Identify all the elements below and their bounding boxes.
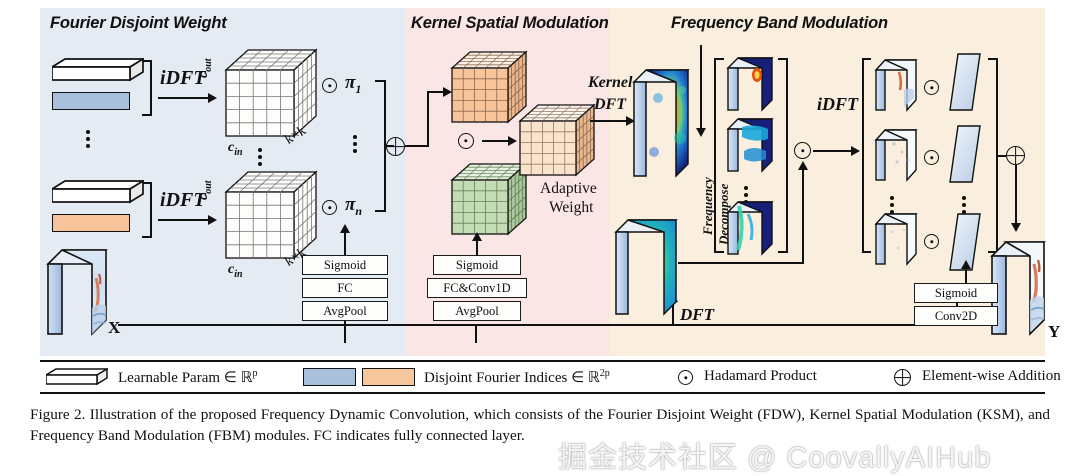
section-title-fbm: Frequency Band Modulation [671,14,888,33]
idft-arrow-head-top [208,93,217,103]
output-label-y: Y [1048,322,1060,342]
slab-shape [990,240,1046,336]
legend-sup-1: 2p [600,368,610,379]
section-title-fdw: Fourier Disjoint Weight [50,14,227,33]
ksm-modulation-cube-green [452,162,528,238]
bar3d-shape [52,180,144,204]
fdw-box-sigmoid[interactable]: Sigmoid [302,255,388,275]
kernel-dft-label-line2: DFT [594,96,626,114]
cube-shape [520,103,596,179]
slab-shape [632,68,690,180]
input-bus-line [118,324,958,326]
ellipsis-params [86,130,90,148]
cube-shape [452,50,528,126]
pi-1-label: π1 [345,72,361,97]
kernel-tensor-cube-bottom [226,170,318,262]
idft-arrow-line-bottom [158,219,210,221]
legend-label-learnable-param: Learnable Param ∈ ℝp [118,368,257,387]
hadamard-icon-pin [322,200,337,215]
legend-sup-0: p [252,368,257,379]
attention-map-slab-1 [948,52,982,114]
idft-arrow-head-bottom [208,215,217,225]
slab-shape [948,124,982,186]
band-bracket-left [714,58,724,253]
kernel-dft-arrow-line [590,120,628,122]
legend-label-hadamard-product: Hadamard Product [704,368,817,385]
ellipsis-cubes [258,148,262,166]
spatial-band-slab-n [874,212,918,266]
idft-label-fbm: iDFT [817,94,858,115]
legend-text-0: Learnable Param ∈ ℝ [118,370,252,386]
swatch-orange-icon [362,368,415,386]
ellipsis-pi [353,135,357,153]
adaptive-weight-label-line1: Adaptive [540,180,597,198]
ksm-weight-cube-orange [452,50,528,126]
legend-label-disjoint-fourier-indices: Disjoint Fourier Indices ∈ ℝ2p [424,368,610,387]
dft-label: DFT [680,305,714,325]
axis-label-cin-bottom: cin [228,262,243,280]
slab-shape [948,52,982,114]
band-bracket-right [778,58,788,253]
hadamard-icon-legend [678,370,693,385]
legend-text-1: Disjoint Fourier Indices ∈ ℝ [424,370,600,386]
cube-shape [452,162,528,238]
disjoint-fourier-index-bar-blue [52,92,130,110]
ksm-box-avgpool[interactable]: AvgPool [433,301,521,321]
spectrum-to-hadamard-arrow [798,161,808,170]
group-bracket-bottom [142,182,152,238]
legend-label-element-wise-addition: Element-wise Addition [922,368,1061,385]
fdw-box-avgpool[interactable]: AvgPool [302,301,388,321]
fdw-to-ksm-riser [427,92,429,147]
axis-label-cout-top: cout [196,58,214,78]
adaptive-weight-label-line2: Weight [549,199,593,217]
spectrum-to-hadamard-riser [802,168,804,263]
hadamard-icon-band-n [924,234,939,249]
axis-label-cout-bottom: cout [196,180,214,200]
fbm-box-output-arrow [961,260,971,269]
figure-caption: Figure 2. Illustration of the proposed F… [30,404,1050,446]
output-feature-slab [990,240,1046,336]
learnable-param-bar-bottom [52,180,144,204]
spectrum-to-hadamard-line [678,262,804,264]
spatial-bracket-left [862,58,871,253]
disjoint-fourier-index-bar-orange [52,214,130,232]
sum-bracket [375,80,386,212]
decompose-arrow-line [700,45,702,130]
idft-arrow-line-fbm [813,150,853,152]
plus-circle-icon-fdw [386,137,405,156]
bar3d-shape [52,58,144,82]
fbm-sum-bracket-stem [998,155,1006,157]
fbm-sum-output-arrow [1011,223,1021,232]
slab-shape [874,128,918,182]
fdw-box-output-arrow [340,224,350,233]
frequency-band-slab-1 [726,56,774,112]
ksm-hadamard-arrow-line [482,140,510,142]
group-bracket-top [142,60,152,116]
section-title-ksm: Kernel Spatial Modulation [411,14,609,33]
ksm-hadamard-arrow-head [508,136,517,146]
plus-circle-icon-legend [894,369,911,386]
decompose-arrow-head [696,128,706,137]
cube-shape [226,48,318,140]
slab-shape [874,58,918,112]
input-spectrum-slab [614,218,678,318]
slab-shape [726,200,774,256]
bar3d-shape [46,368,108,386]
fbm-sum-output-line [1015,165,1017,225]
slab-shape [726,56,774,112]
legend-divider-bottom [40,392,1045,394]
cube-shape [226,170,318,262]
fdw-box-fc[interactable]: FC [302,278,388,298]
hadamard-icon-fbm [794,142,811,159]
attention-map-slab-2 [948,124,982,186]
spatial-band-slab-1 [874,58,918,112]
hadamard-icon-ksm [458,133,474,149]
figure-root: Fourier Disjoint Weight Kernel Spatial M… [0,0,1080,464]
frequency-band-slab-2 [726,117,774,173]
legend-divider-top [40,360,1045,362]
fbm-box-sigmoid[interactable]: Sigmoid [914,283,998,303]
plus-circle-icon-fbm [1006,146,1025,165]
hadamard-icon-band-2 [924,150,939,165]
ksm-box-sigmoid[interactable]: Sigmoid [433,255,521,275]
ksm-bus-drop [475,324,477,343]
kernel-dft-label-line1: Kernel [588,74,632,92]
slab-shape [874,212,918,266]
kernel-tensor-cube-top [226,48,318,140]
idft-arrow-line-top [158,97,210,99]
legend: Learnable Param ∈ ℝp Disjoint Fourier In… [40,360,1045,394]
fbm-box-conv2d[interactable]: Conv2D [914,306,998,326]
bar3d-white-icon [46,368,108,386]
input-feature-slab [46,248,108,336]
swatch-blue-icon [303,368,356,386]
ksm-box-fc-conv1d[interactable]: FC&Conv1D [427,278,527,298]
slab-shape [46,248,108,336]
kernel-spectrum-slab [632,68,690,180]
hadamard-icon-pi1 [322,78,337,93]
hadamard-icon-band-1 [924,80,939,95]
fdw-to-ksm-arrow [443,87,452,97]
fbm-sum-bracket [988,58,998,253]
slab-shape [726,117,774,173]
spatial-band-slab-2 [874,128,918,182]
fdw-to-ksm-line [405,145,429,147]
slab-shape [614,218,678,318]
input-label-x: X [108,318,120,338]
ksm-box-output-arrow [472,232,482,241]
adaptive-weight-cube [520,103,596,179]
pi-n-label: πn [345,194,362,219]
frequency-band-slab-n [726,200,774,256]
fdw-box-output-line [344,231,346,256]
learnable-param-bar-top [52,58,144,82]
axis-label-cin-top: cin [228,140,243,158]
idft-arrow-head-fbm [851,146,860,156]
